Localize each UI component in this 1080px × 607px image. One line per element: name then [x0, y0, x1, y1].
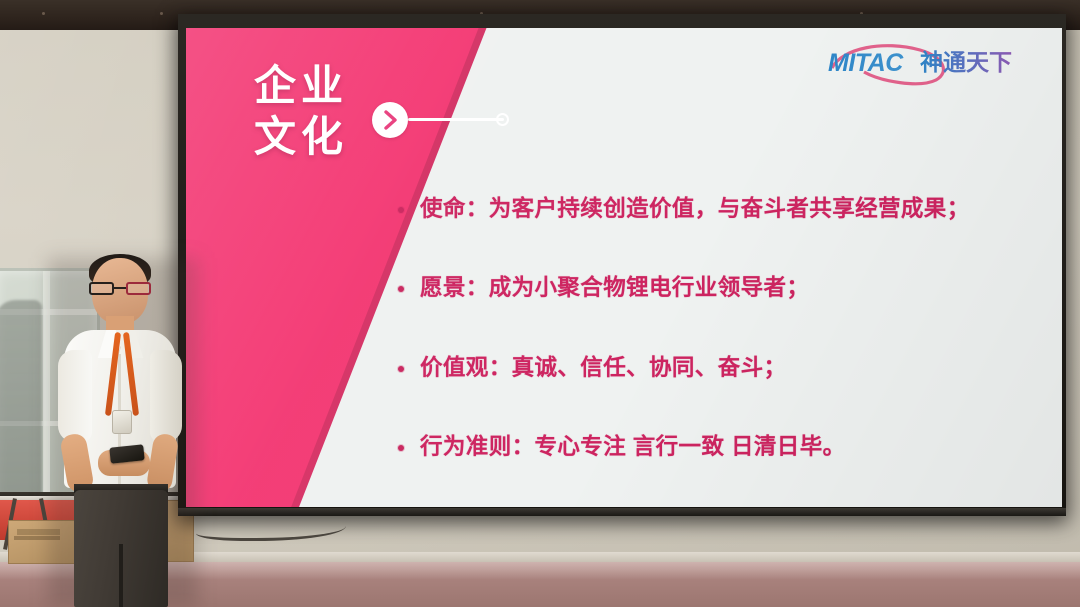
bullet-mission: 使命：为客户持续创造价值，与奋斗者共享经营成果；: [420, 194, 970, 224]
bullet-dot-icon: [398, 286, 404, 292]
sleeve-right: [150, 350, 182, 442]
glasses-icon: [89, 282, 151, 295]
bullet-dot-icon: [398, 445, 404, 451]
svg-text:神通天下: 神通天下: [920, 49, 1012, 76]
list-item: 行为准则：专心专注 言行一致 日清日毕。: [398, 432, 1038, 462]
chevron-right-icon: [372, 102, 408, 138]
display-bottom-bezel: [178, 508, 1066, 516]
slide-bullet-list: 使命：为客户持续创造价值，与奋斗者共享经营成果； 愿景：成为小聚合物锂电行业领导…: [398, 194, 1038, 507]
bullet-dot-icon: [398, 366, 404, 372]
connector-end-dot: [496, 113, 509, 126]
bullet-values: 价值观：真诚、信任、协同、奋斗；: [420, 353, 786, 383]
list-item: 价值观：真诚、信任、协同、奋斗；: [398, 353, 1038, 383]
slide-title-line-1: 企业: [254, 60, 348, 111]
presenter: [58, 258, 184, 607]
photo-scene: 企业 文化: [0, 0, 1080, 607]
svg-text:MITAC: MITAC: [828, 49, 904, 77]
trouser-leg-gap: [119, 544, 123, 607]
id-badge: [112, 410, 132, 434]
list-item: 愿景：成为小聚合物锂电行业领导者；: [398, 273, 1038, 303]
sleeve-left: [58, 350, 92, 442]
bullet-dot-icon: [398, 207, 404, 213]
display-screen: 企业 文化: [186, 28, 1062, 507]
mitac-logo: MITAC 神通天下: [824, 38, 1036, 86]
wall-display: 企业 文化: [178, 14, 1066, 516]
slide-title: 企业 文化: [254, 60, 348, 162]
person-silhouette-behind-glass: [0, 300, 42, 498]
presentation-slide: 企业 文化: [186, 28, 1062, 507]
bullet-vision: 愿景：成为小聚合物锂电行业领导者；: [420, 273, 809, 303]
list-item: 使命：为客户持续创造价值，与奋斗者共享经营成果；: [398, 194, 1038, 224]
slide-title-line-2: 文化: [254, 111, 348, 162]
title-connector-line: [408, 118, 504, 121]
bullet-conduct: 行为准则：专心专注 言行一致 日清日毕。: [420, 432, 846, 462]
